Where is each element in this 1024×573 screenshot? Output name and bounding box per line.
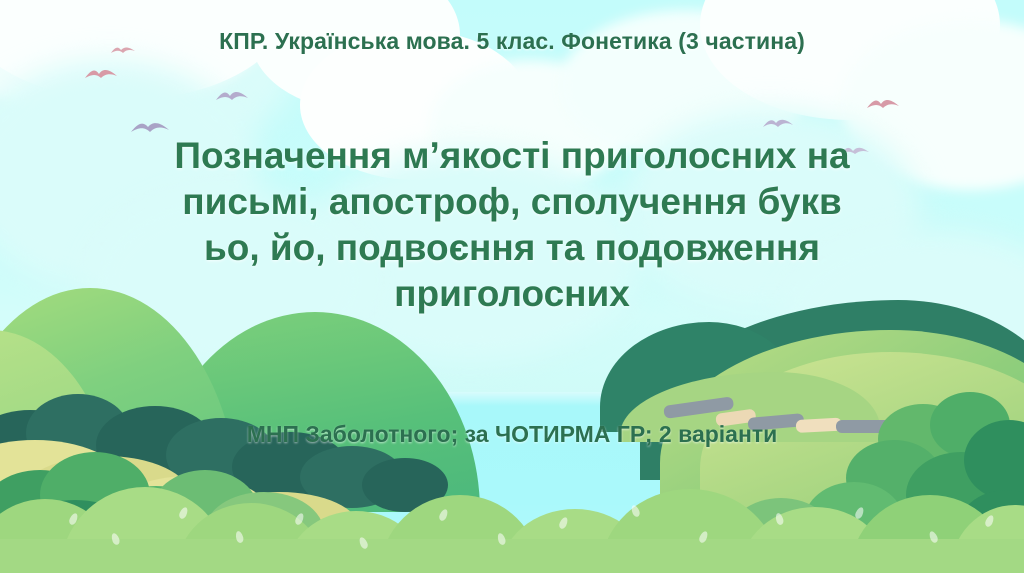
main-title-line-1: Позначення м’якості приголосних на (62, 133, 962, 179)
main-title-line-3: ьо, йо, подвоєння та подовження (62, 225, 962, 271)
slide-subtitle: МНП Заболотного; за ЧОТИРМА ГР; 2 варіан… (0, 421, 1024, 448)
main-title-line-2: письмі, апостроф, сполучення букв (62, 179, 962, 225)
slide-top-title: КПР. Українська мова. 5 клас. Фонетика (… (0, 28, 1024, 55)
text-layer: КПР. Українська мова. 5 клас. Фонетика (… (0, 0, 1024, 573)
slide-canvas: КПР. Українська мова. 5 клас. Фонетика (… (0, 0, 1024, 573)
main-title-line-4: приголосних (62, 271, 962, 317)
slide-main-title: Позначення м’якості приголосних на письм… (62, 133, 962, 317)
